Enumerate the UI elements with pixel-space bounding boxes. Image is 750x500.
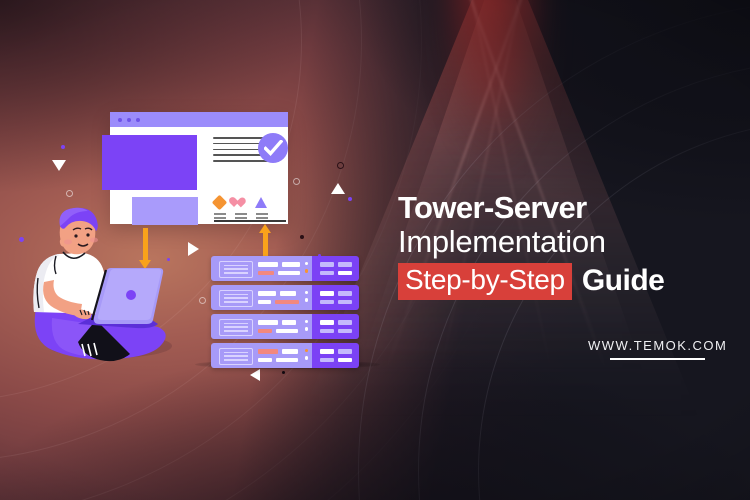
highlight-badge: Step-by-Step	[398, 263, 572, 299]
led-icon	[305, 298, 308, 301]
led-icon	[305, 262, 308, 265]
led-icon	[305, 320, 308, 323]
server-unit-front	[211, 256, 312, 281]
browser-titlebar	[110, 112, 288, 127]
server-display-icon	[219, 348, 253, 365]
server-unit[interactable]	[211, 343, 359, 368]
decor-dot	[348, 197, 352, 201]
server-display-icon	[219, 290, 253, 307]
server-unit-front	[211, 314, 312, 339]
server-bars	[258, 291, 302, 308]
decor-ring	[337, 162, 344, 169]
server-side-bars	[320, 349, 353, 366]
led-icon	[305, 349, 308, 352]
server-rack[interactable]	[211, 256, 359, 372]
website-url: WWW.TEMOK.COM	[588, 338, 727, 353]
server-bars	[258, 320, 302, 337]
hero-image-block	[102, 135, 197, 190]
diamond-icon	[212, 195, 228, 211]
divider-line	[214, 220, 286, 222]
headline-line-2: Implementation	[398, 225, 728, 260]
feature-icons-block	[214, 197, 280, 221]
server-unit-side	[312, 256, 359, 281]
window-dot-icon	[127, 118, 131, 122]
server-side-bars	[320, 320, 353, 337]
decor-dot	[300, 235, 304, 239]
server-unit-side	[312, 314, 359, 339]
led-icon	[305, 291, 308, 294]
triangle-icon	[255, 197, 267, 208]
heart-icon	[234, 197, 246, 208]
server-display-icon	[219, 319, 253, 336]
server-side-bars	[320, 262, 353, 279]
server-unit[interactable]	[211, 285, 359, 310]
headline-line-1: Tower-Server	[398, 192, 728, 224]
server-unit-front	[211, 343, 312, 368]
server-bars	[258, 349, 302, 366]
server-unit[interactable]	[211, 314, 359, 339]
decor-ring	[199, 297, 206, 304]
server-unit-side	[312, 285, 359, 310]
server-display-icon	[219, 261, 253, 278]
led-icon	[305, 269, 308, 272]
server-unit[interactable]	[211, 256, 359, 281]
headline-block: Tower-Server Implementation Step-by-Step…	[398, 192, 728, 300]
banner-root: Tower-Server Implementation Step-by-Step…	[0, 0, 750, 500]
window-dot-icon	[118, 118, 122, 122]
url-underline	[610, 358, 705, 360]
icon-row	[214, 197, 280, 208]
window-dot-icon	[136, 118, 140, 122]
server-unit-front	[211, 285, 312, 310]
triangle-up-icon	[331, 183, 345, 194]
check-circle-icon	[258, 133, 288, 163]
led-icon	[305, 327, 308, 330]
headline-guide-word: Guide	[582, 264, 665, 298]
check-mark-icon	[264, 140, 283, 157]
headline-line-3: Step-by-Step Guide	[398, 263, 728, 299]
decor-dot	[61, 145, 65, 149]
server-unit-side	[312, 343, 359, 368]
server-bars	[258, 262, 302, 279]
person-with-laptop	[18, 196, 193, 371]
triangle-down-icon	[52, 160, 66, 171]
server-side-bars	[320, 291, 353, 308]
website-url-block[interactable]: WWW.TEMOK.COM	[588, 338, 727, 360]
led-icon	[305, 356, 308, 359]
decor-ring	[293, 178, 300, 185]
